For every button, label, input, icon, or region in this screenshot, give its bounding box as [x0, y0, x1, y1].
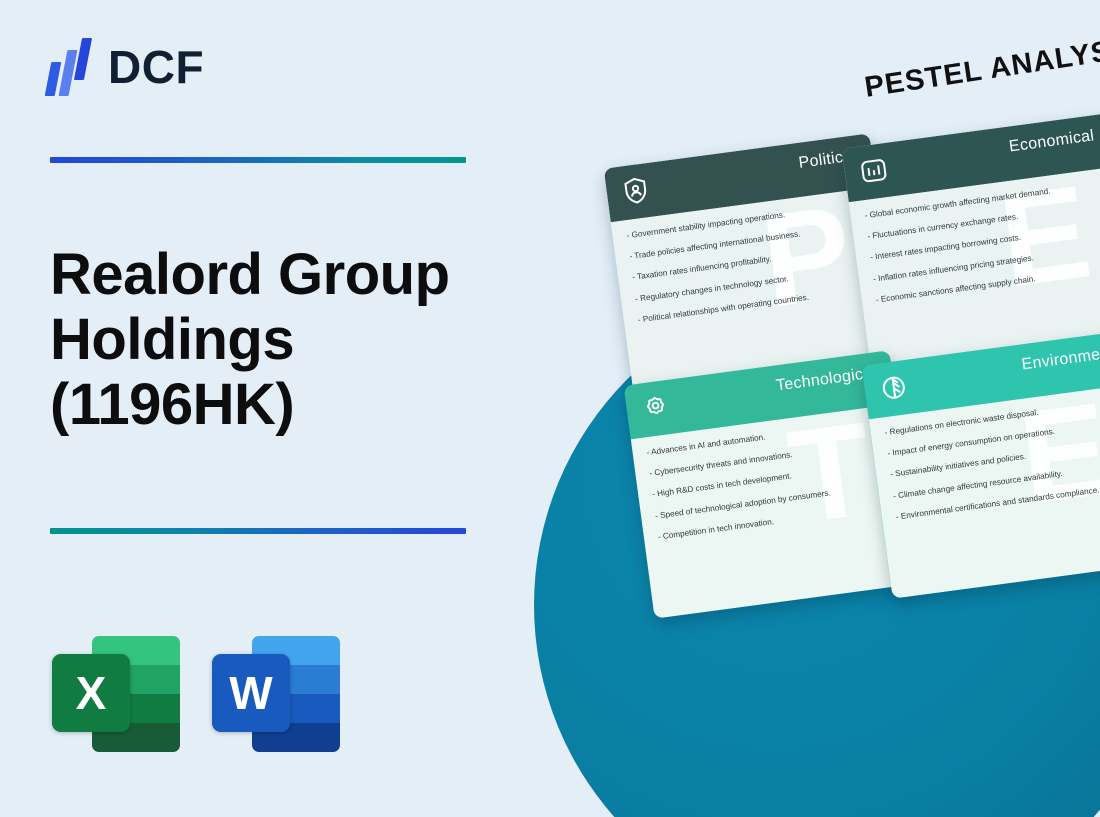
bar-chart-icon	[857, 154, 891, 188]
word-letter: W	[212, 654, 290, 732]
download-icons: X W	[52, 630, 340, 758]
poster-canvas: DCF Realord Group Holdings (1196HK) X W …	[0, 0, 1100, 817]
pestel-title: PESTEL ANALYSIS	[863, 31, 1100, 105]
gear-icon	[639, 391, 673, 425]
card-title: Environment	[1021, 344, 1100, 374]
bar-chart-logo-icon	[48, 38, 94, 96]
page-title-line3: (1196HK)	[50, 373, 520, 438]
divider-bottom	[50, 528, 466, 534]
brand-name: DCF	[108, 44, 204, 90]
excel-letter: X	[52, 654, 130, 732]
pestel-graphic: PESTEL ANALYSIS Political P - Government…	[560, 30, 1100, 650]
pestel-card-environment[interactable]: Environment E - Regulations on electroni…	[862, 330, 1100, 598]
excel-file-icon[interactable]: X	[52, 630, 180, 758]
leaf-icon	[877, 371, 911, 405]
card-body: E - Regulations on electronic waste disp…	[869, 384, 1100, 599]
page-title-line1: Realord Group	[50, 243, 520, 308]
card-title: Economical	[1008, 127, 1095, 156]
page-title-line2: Holdings	[50, 308, 520, 373]
word-file-icon[interactable]: W	[212, 630, 340, 758]
page-title: Realord Group Holdings (1196HK)	[50, 243, 520, 438]
shield-person-icon	[619, 174, 653, 208]
brand-logo: DCF	[48, 38, 204, 96]
divider-top	[50, 157, 466, 163]
